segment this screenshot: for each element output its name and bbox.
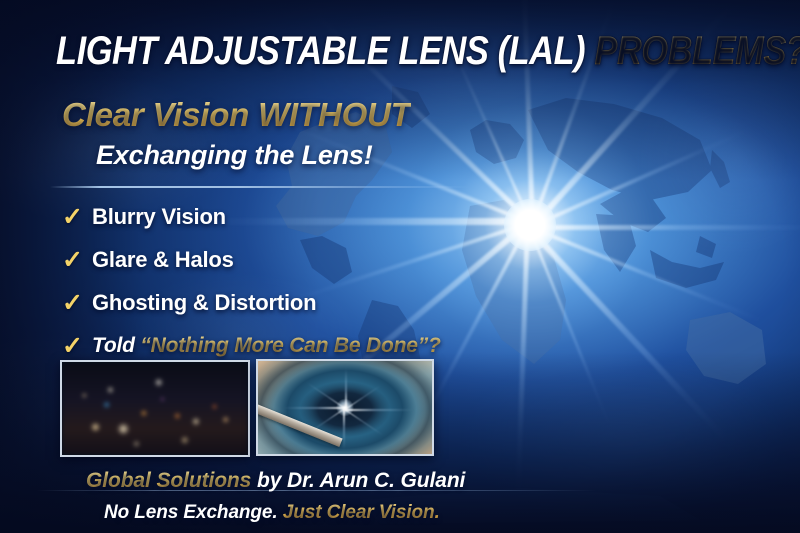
eye-flare-ray <box>345 369 347 409</box>
eye-flare-ray <box>345 409 413 411</box>
list-item: ✓ Ghosting & Distortion <box>62 286 441 320</box>
footer-tagline-gold: Just Clear Vision. <box>283 502 440 523</box>
eye-flare-ray <box>343 409 345 449</box>
footer-line-2: No Lens Exchange. Just Clear Vision. <box>0 503 800 522</box>
checkmark-icon: ✓ <box>62 248 92 273</box>
subtitle-line-2: Exchanging the Lens! <box>96 142 373 169</box>
list-item: ✓ Told “Nothing More Can Be Done”? <box>62 329 441 363</box>
list-item-lead: Told <box>92 334 140 357</box>
subtitle-line-1: Clear Vision WITHOUT <box>62 98 411 131</box>
title-white-text: LIGHT ADJUSTABLE LENS (LAL) <box>56 29 594 73</box>
footer-line-1: Global Solutions by Dr. Arun C. Gulani <box>0 470 800 491</box>
list-item-label: Told “Nothing More Can Be Done”? <box>92 334 441 358</box>
list-item: ✓ Glare & Halos <box>62 243 441 277</box>
night-traffic-image <box>62 362 248 455</box>
header-divider <box>50 186 470 188</box>
footer-gold-text: Global Solutions <box>86 469 251 492</box>
photo-eye-surgery <box>256 359 434 456</box>
checkmark-icon: ✓ <box>62 334 92 359</box>
list-item-label: Glare & Halos <box>92 247 234 273</box>
symptom-list: ✓ Blurry Vision ✓ Glare & Halos ✓ Ghosti… <box>62 200 441 372</box>
list-item-label: Ghosting & Distortion <box>92 290 316 316</box>
checkmark-icon: ✓ <box>62 291 92 316</box>
list-item-label: Blurry Vision <box>92 204 226 230</box>
page-title: LIGHT ADJUSTABLE LENS (LAL) PROBLEMS? <box>56 31 744 71</box>
footer-white-text: by Dr. Arun C. Gulani <box>251 469 465 492</box>
footer-tagline-white: No Lens Exchange. <box>104 502 283 523</box>
eye-surgery-image <box>258 361 432 454</box>
list-item-quote: “Nothing More Can Be Done”? <box>140 334 440 357</box>
photo-night-traffic <box>60 360 250 457</box>
checkmark-icon: ✓ <box>62 205 92 230</box>
list-item: ✓ Blurry Vision <box>62 200 441 234</box>
poster-canvas: LIGHT ADJUSTABLE LENS (LAL) PROBLEMS? Cl… <box>0 0 800 533</box>
title-gold-text: PROBLEMS? <box>594 29 800 73</box>
